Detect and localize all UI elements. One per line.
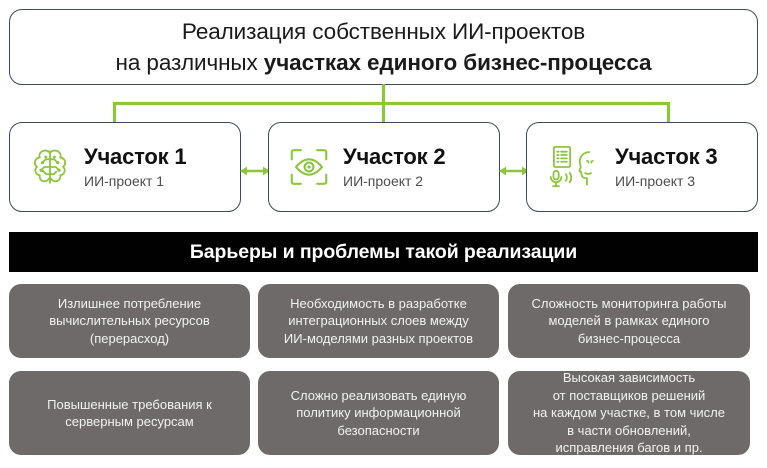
problem-card: Высокая зависимость от поставщиков решен… — [508, 371, 750, 455]
problem-card-text: Излишнее потребление вычислительных ресу… — [49, 295, 210, 348]
title-banner: Реализация собственных ИИ-проектов на ра… — [9, 9, 758, 85]
problem-card-text: Повышенные требования к серверным ресурс… — [47, 396, 212, 431]
section-card-uchastok-1[interactable]: Участок 1 ИИ-проект 1 — [9, 122, 241, 212]
title-line-2-regular: на различных — [116, 50, 264, 75]
problem-card: Сложно реализовать единую политику инфор… — [258, 371, 499, 455]
section-card-uchastok-3[interactable]: Участок 3 ИИ-проект 3 — [526, 122, 758, 212]
double-arrow-icon-2-3 — [499, 160, 529, 182]
double-arrow-icon-1-2 — [240, 160, 270, 182]
title-line-1: Реализация собственных ИИ-проектов — [182, 16, 585, 47]
section-title: Участок 3 — [615, 144, 717, 169]
section-card-uchastok-2[interactable]: Участок 2 ИИ-проект 2 — [268, 122, 500, 212]
problem-card: Сложность мониторинга работы моделей в р… — [508, 284, 750, 358]
problem-card: Необходимость в разработке интеграционны… — [258, 284, 499, 358]
problem-card-text: Необходимость в разработке интеграционны… — [284, 295, 473, 348]
section-title: Участок 1 — [84, 144, 186, 169]
section-title: Участок 2 — [343, 144, 445, 169]
title-line-2: на различных участках единого бизнес-про… — [116, 47, 652, 78]
problem-card: Излишнее потребление вычислительных ресу… — [9, 284, 250, 358]
section-text-uchastok-1: Участок 1 ИИ-проект 1 — [84, 144, 186, 191]
section-subtitle: ИИ-проект 3 — [615, 171, 717, 191]
problem-card-text: Высокая зависимость от поставщиков решен… — [533, 369, 725, 457]
problem-card-text: Сложность мониторинга работы моделей в р… — [532, 295, 727, 348]
section-subtitle: ИИ-проект 2 — [343, 171, 445, 191]
brain-circuit-icon — [22, 139, 78, 195]
speech-recognition-icon — [539, 139, 609, 195]
problem-card: Повышенные требования к серверным ресурс… — [9, 371, 250, 455]
barriers-banner-label: Барьеры и проблемы такой реализации — [190, 241, 577, 264]
section-text-uchastok-2: Участок 2 ИИ-проект 2 — [343, 144, 445, 191]
connector-bracket — [0, 84, 767, 126]
eye-scan-icon — [281, 139, 337, 195]
section-text-uchastok-3: Участок 3 ИИ-проект 3 — [615, 144, 717, 191]
barriers-banner: Барьеры и проблемы такой реализации — [9, 232, 758, 272]
title-line-2-bold: участках единого бизнес-процесса — [264, 50, 652, 75]
section-subtitle: ИИ-проект 1 — [84, 171, 186, 191]
problem-card-text: Сложно реализовать единую политику инфор… — [291, 387, 467, 440]
